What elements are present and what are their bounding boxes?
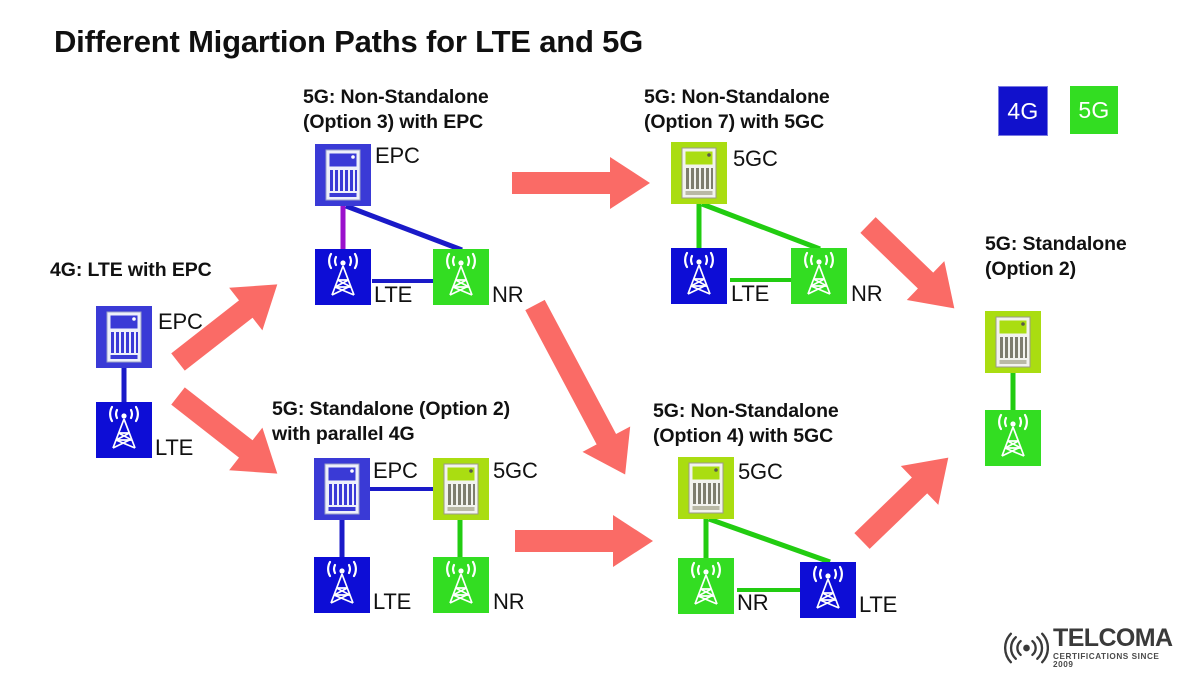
group-caption-4g-lte-epc: 4G: LTE with EPC	[50, 258, 212, 283]
logo-brand: TELCOMA	[1053, 626, 1180, 651]
tower-icon	[314, 557, 370, 613]
diagram-canvas: Different Migartion Paths for LTE and 5G	[0, 0, 1200, 686]
tower-icon	[678, 558, 734, 614]
telcoma-logo: TELCOMA CERTIFICATIONS SINCE 2009	[1004, 626, 1180, 674]
server-icon	[678, 457, 734, 519]
server-icon	[433, 458, 489, 520]
group-caption-option2-standalone: 5G: Standalone (Option 2)	[985, 232, 1127, 282]
node-label-lte: LTE	[374, 282, 412, 308]
arrow-option4-to-standalone	[843, 438, 967, 560]
node-lte-tower[interactable]	[315, 249, 371, 305]
link-5gc-nr	[702, 204, 820, 249]
node-label-epc: EPC	[158, 309, 203, 335]
node-label-nr: NR	[851, 281, 882, 307]
arrow-option3-to-option7	[512, 157, 650, 209]
signal-wave-icon	[1004, 630, 1049, 666]
tower-icon	[433, 557, 489, 613]
node-epc-server[interactable]	[96, 306, 152, 368]
node-label-nr: NR	[492, 282, 523, 308]
node-5gc-server[interactable]	[433, 458, 489, 520]
node-label-nr: NR	[493, 589, 524, 615]
arrow-option2-to-option4	[515, 515, 653, 567]
link-epc-nr	[346, 206, 462, 250]
node-nr-tower[interactable]	[985, 410, 1041, 466]
group-caption-option2-parallel: 5G: Standalone (Option 2) with parallel …	[272, 397, 510, 447]
node-label-lte: LTE	[373, 589, 411, 615]
group-caption-option7: 5G: Non-Standalone (Option 7) with 5GC	[644, 85, 830, 135]
tower-icon	[800, 562, 856, 618]
node-lte-tower[interactable]	[96, 402, 152, 458]
node-label-5gc: 5GC	[493, 458, 538, 484]
link-5gc-lte	[709, 519, 830, 562]
node-label-lte: LTE	[859, 592, 897, 618]
node-epc-server[interactable]	[315, 144, 371, 206]
node-5gc-server[interactable]	[678, 457, 734, 519]
node-nr-tower[interactable]	[791, 248, 847, 304]
server-icon	[985, 311, 1041, 373]
legend-chip-4g: 4G	[998, 86, 1048, 136]
tower-icon	[96, 402, 152, 458]
tower-icon	[315, 249, 371, 305]
node-epc-server[interactable]	[314, 458, 370, 520]
node-lte-tower[interactable]	[314, 557, 370, 613]
node-label-5gc: 5GC	[733, 146, 778, 172]
tower-icon	[985, 410, 1041, 466]
tower-icon	[791, 248, 847, 304]
node-nr-tower[interactable]	[678, 558, 734, 614]
legend-chip-5g: 5G	[1070, 86, 1118, 134]
tower-icon	[671, 248, 727, 304]
node-label-lte: LTE	[155, 435, 193, 461]
server-icon	[315, 144, 371, 206]
node-5gc-server[interactable]	[671, 142, 727, 204]
logo-tagline: CERTIFICATIONS SINCE 2009	[1053, 653, 1180, 669]
node-label-nr: NR	[737, 590, 768, 616]
server-icon	[96, 306, 152, 368]
arrow-option7-to-standalone	[849, 206, 973, 328]
page-title: Different Migartion Paths for LTE and 5G	[54, 24, 643, 60]
node-nr-tower[interactable]	[433, 557, 489, 613]
node-label-epc: EPC	[373, 458, 418, 484]
node-nr-tower[interactable]	[433, 249, 489, 305]
server-icon	[671, 142, 727, 204]
node-label-epc: EPC	[375, 143, 420, 169]
tower-icon	[433, 249, 489, 305]
group-caption-option3: 5G: Non-Standalone (Option 3) with EPC	[303, 85, 489, 135]
server-icon	[314, 458, 370, 520]
node-label-5gc: 5GC	[738, 459, 783, 485]
node-lte-tower[interactable]	[671, 248, 727, 304]
node-label-lte: LTE	[731, 281, 769, 307]
node-lte-tower[interactable]	[800, 562, 856, 618]
group-caption-option4: 5G: Non-Standalone (Option 4) with 5GC	[653, 399, 839, 449]
node-5gc-server[interactable]	[985, 311, 1041, 373]
